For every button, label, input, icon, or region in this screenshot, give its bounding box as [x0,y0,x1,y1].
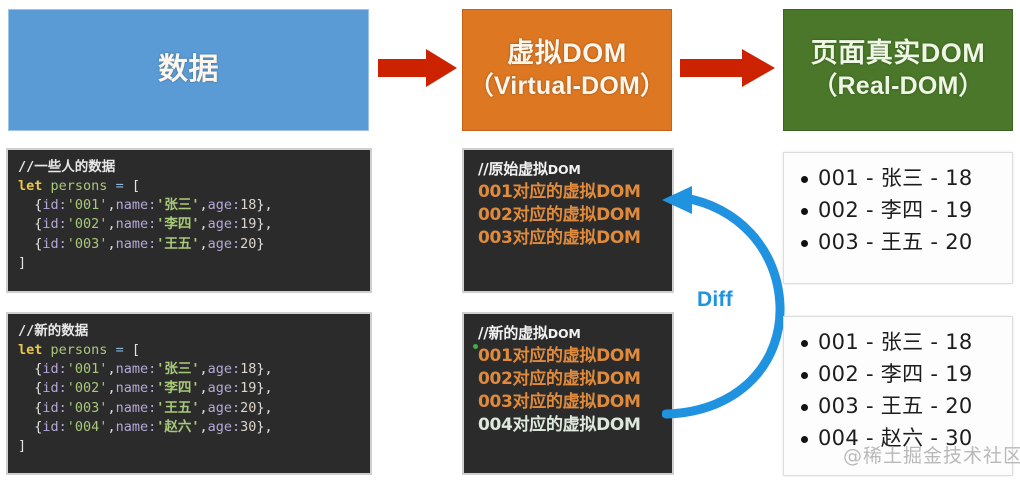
virtual-dom-panel-new: //新的虚拟DOM 001对应的虚拟DOM002对应的虚拟DOM003对应的虚拟… [462,312,674,475]
rendered-list-old-items: 001 - 张三 - 18002 - 李四 - 19003 - 王五 - 20 [792,163,1006,259]
virtual-dom-line: 003对应的虚拟DOM [478,391,672,414]
virtual-dom-panel-new-header: //新的虚拟DOM [478,322,672,343]
watermark: @稀土掘金技术社区 [843,441,1020,468]
virtual-dom-line: 003对应的虚拟DOM [478,227,672,250]
list-item: 001 - 张三 - 18 [818,163,1006,195]
code-panel-new-data: //新的数据 let persons = [ {id:'001',name:'张… [6,312,372,475]
code-bracket-close: ] [18,438,26,454]
virtual-dom-line: 001对应的虚拟DOM [478,181,672,204]
list-item: 001 - 张三 - 18 [818,327,1006,359]
diff-label: Diff [697,288,733,312]
virtual-dom-line: 004对应的虚拟DOM [478,414,672,437]
right-arrow-icon [378,48,458,88]
flow-box-data-line1: 数据 [158,52,219,87]
flow-box-real-dom: 页面真实DOM （Real-DOM） [783,9,1013,131]
diagram-canvas: 数据 虚拟DOM （Virtual-DOM） 页面真实DOM （Real-DOM… [0,0,1020,481]
change-marker-dot-icon [473,344,478,349]
virtual-dom-new-lines: 001对应的虚拟DOM002对应的虚拟DOM003对应的虚拟DOM004对应的虚… [478,345,672,437]
code-operator: = [116,342,124,358]
virtual-dom-panel-old-header: //原始虚拟DOM [478,158,672,179]
rendered-list-old: 001 - 张三 - 18002 - 李四 - 19003 - 王五 - 20 [783,152,1013,284]
code-keyword: let [18,178,42,194]
arrow-vdom-to-rdom [680,48,776,88]
code-operator: = [116,178,124,194]
code-comment: //一些人的数据 [18,159,115,175]
list-item: 003 - 王五 - 20 [818,227,1006,259]
code-keyword: let [18,342,42,358]
virtual-dom-panel-old: //原始虚拟DOM 001对应的虚拟DOM002对应的虚拟DOM003对应的虚拟… [462,148,674,293]
list-item: 002 - 李四 - 19 [818,195,1006,227]
flow-box-real-dom-line1: 页面真实DOM [811,38,986,70]
code-bracket-open: [ [132,178,140,194]
code-comment: //新的数据 [18,323,88,339]
code-panel-old-data: //一些人的数据 let persons = [ {id:'001',name:… [6,148,372,293]
virtual-dom-old-lines: 001对应的虚拟DOM002对应的虚拟DOM003对应的虚拟DOM [478,181,672,250]
code-variable: persons [51,178,108,194]
virtual-dom-line: 001对应的虚拟DOM [478,345,672,368]
right-arrow-icon [680,48,776,88]
flow-box-data: 数据 [8,9,369,131]
list-item: 003 - 王五 - 20 [818,391,1006,423]
list-item: 002 - 李四 - 19 [818,359,1006,391]
code-variable: persons [51,342,108,358]
virtual-dom-line: 002对应的虚拟DOM [478,368,672,391]
flow-box-virtual-dom-line2: （Virtual-DOM） [469,72,666,102]
rendered-list-new-items: 001 - 张三 - 18002 - 李四 - 19003 - 王五 - 200… [792,327,1006,455]
flow-box-real-dom-line2: （Real-DOM） [812,72,983,102]
code-bracket-close: ] [18,255,26,271]
code-bracket-open: [ [132,342,140,358]
arrow-data-to-vdom [378,48,458,88]
flow-box-virtual-dom-line1: 虚拟DOM [507,38,627,70]
flow-box-virtual-dom: 虚拟DOM （Virtual-DOM） [462,9,672,131]
virtual-dom-line: 002对应的虚拟DOM [478,204,672,227]
